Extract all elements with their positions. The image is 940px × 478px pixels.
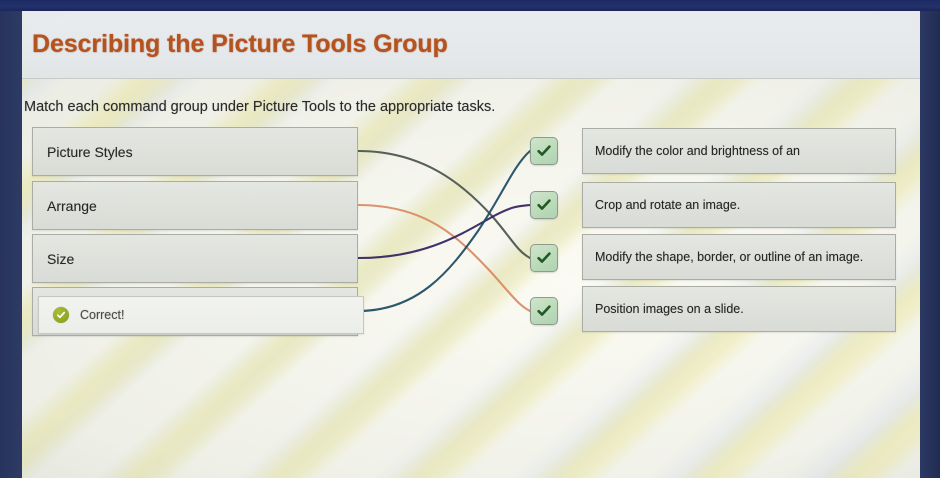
right-item-crop-rotate[interactable]: Crop and rotate an image. — [582, 182, 896, 228]
page-title: Describing the Picture Tools Group — [32, 30, 448, 59]
header-divider — [22, 78, 920, 79]
check-icon — [536, 303, 552, 319]
check-icon — [536, 250, 552, 266]
check-icon — [536, 143, 552, 159]
match-badge-1[interactable] — [530, 137, 558, 165]
match-badge-4[interactable] — [530, 297, 558, 325]
slide-page: Describing the Picture Tools Group Match… — [22, 11, 920, 478]
left-item-label: Arrange — [47, 198, 97, 214]
page-header: Describing the Picture Tools Group — [22, 11, 920, 78]
left-item-label: Picture Styles — [47, 144, 133, 160]
left-item-picture-styles[interactable]: Picture Styles — [32, 127, 358, 176]
match-badge-2[interactable] — [530, 191, 558, 219]
right-item-label: Modify the color and brightness of an — [595, 143, 800, 160]
right-item-modify-color-brightness[interactable]: Modify the color and brightness of an — [582, 128, 896, 174]
left-item-size[interactable]: Size — [32, 234, 358, 283]
monitor-bezel: Describing the Picture Tools Group Match… — [0, 0, 940, 478]
feedback-status-text: Correct! — [80, 308, 124, 322]
match-badge-3[interactable] — [530, 244, 558, 272]
bezel-top-band — [0, 0, 940, 11]
left-item-label: Size — [47, 251, 74, 267]
feedback-status-bar: Correct! — [38, 296, 364, 334]
left-item-arrange[interactable]: Arrange — [32, 181, 358, 230]
right-item-label: Crop and rotate an image. — [595, 197, 740, 214]
check-circle-icon — [53, 307, 69, 323]
check-glyph — [56, 310, 66, 320]
instruction-text: Match each command group under Picture T… — [24, 99, 495, 115]
right-item-modify-shape-border[interactable]: Modify the shape, border, or outline of … — [582, 234, 896, 280]
check-icon — [536, 197, 552, 213]
right-item-label: Modify the shape, border, or outline of … — [595, 249, 863, 266]
right-item-label: Position images on a slide. — [595, 301, 744, 318]
right-item-position-images[interactable]: Position images on a slide. — [582, 286, 896, 332]
